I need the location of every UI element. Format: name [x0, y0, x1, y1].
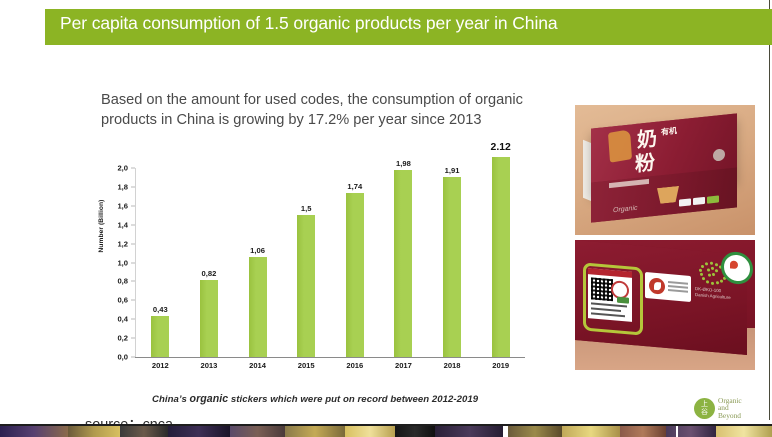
filmstrip-divider: [676, 426, 678, 437]
filmstrip-segment: [666, 426, 716, 437]
filmstrip-segment: [620, 426, 666, 437]
bar-value-label: 1,91: [445, 166, 460, 175]
chart-bar: [346, 193, 364, 357]
eu-leaf-dot: [712, 273, 715, 276]
logo-mark-char-1: 上: [701, 400, 708, 408]
y-tick-label: 0,4: [100, 315, 128, 324]
danish-cert-text: [668, 281, 688, 285]
x-tick-label: 2013: [185, 361, 234, 370]
box-glyph-one: 奶: [637, 128, 657, 150]
eu-leaf-dot: [707, 268, 710, 271]
eu-leaf-dot: [708, 273, 711, 276]
filmstrip-segment: [68, 426, 120, 437]
bar-chart: Number (Billion) 0,00,20,40,60,81,01,21,…: [100, 160, 525, 380]
y-tick-label: 1,0: [100, 258, 128, 267]
bar-value-label: 0,43: [153, 305, 168, 314]
eu-leaf-dot: [711, 267, 714, 270]
logo-mark-icon: 上 谷: [694, 398, 715, 419]
box-glyph-small: 有机: [661, 126, 677, 136]
bar-slot: 1,74: [331, 168, 380, 357]
x-tick-label: 2014: [233, 361, 282, 370]
bar-value-label: 1,5: [301, 204, 312, 213]
x-tick-label: 2018: [428, 361, 477, 370]
y-tick-mark: [131, 224, 135, 225]
cert-chip-1: [679, 198, 691, 206]
filmstrip-segment: [435, 426, 505, 437]
danish-certification-label: [645, 272, 691, 302]
bar-value-label: 1,06: [250, 246, 265, 255]
logo-line-3: Beyond: [718, 412, 742, 420]
eu-leaf-dot: [710, 262, 713, 265]
logo-mark-char-2: 谷: [701, 408, 708, 416]
bar-slot: 0,43: [136, 168, 185, 357]
caption-suffix: stickers which were put on record betwee…: [228, 394, 478, 405]
x-tick-label: 2019: [476, 361, 525, 370]
filmstrip-divider: [503, 426, 505, 437]
eu-leaf-dot: [716, 281, 719, 284]
y-tick-mark: [131, 281, 135, 282]
danish-cert-icon: [649, 277, 665, 294]
box-calligraphy-block: [608, 129, 632, 163]
y-tick-label: 0,0: [100, 353, 128, 362]
x-tick-label: 2016: [331, 361, 380, 370]
cert-chip-3: [707, 195, 719, 203]
chart-bar: [249, 257, 267, 357]
bar-slot: 2.12: [476, 168, 525, 357]
y-tick-label: 1,6: [100, 201, 128, 210]
y-tick-mark: [131, 168, 135, 169]
filmstrip-segment: [508, 426, 562, 437]
bar-value-label: 1,98: [396, 159, 411, 168]
chart-bar: [200, 280, 218, 357]
chart-bar: [394, 170, 412, 357]
chart-bar: [151, 316, 169, 357]
box-glyph-two: 粉: [635, 152, 655, 174]
y-tick-label: 0,6: [100, 296, 128, 305]
bar-slot: 1,98: [379, 168, 428, 357]
bar-value-label: 0,82: [202, 269, 217, 278]
filmstrip-segment: [285, 426, 345, 437]
cert-chip-2: [693, 197, 705, 205]
eu-leaf-dot: [702, 277, 705, 280]
y-tick-label: 0,2: [100, 334, 128, 343]
y-tick-label: 1,8: [100, 182, 128, 191]
filmstrip-segment: [395, 426, 435, 437]
y-tick-label: 2,0: [100, 164, 128, 173]
filmstrip-segment: [562, 426, 620, 437]
bar-value-label: 2.12: [491, 142, 511, 153]
eu-leaf-dot: [699, 269, 702, 272]
bar-slot: 1,91: [428, 168, 477, 357]
eu-leaf-dot: [711, 282, 714, 285]
eu-leaf-dot: [701, 265, 704, 268]
caption-prefix: China’s: [152, 394, 190, 405]
slide-right-border: [769, 0, 770, 420]
filmstrip-segment: [168, 426, 230, 437]
chart-bar: [492, 157, 510, 357]
x-tick-label: 2012: [136, 361, 185, 370]
x-axis-line: [135, 357, 525, 358]
page-title: Per capita consumption of 1.5 organic pr…: [60, 13, 760, 34]
y-tick-label: 1,2: [100, 239, 128, 248]
chart-bar: [297, 215, 315, 357]
y-tick-mark: [131, 186, 135, 187]
y-tick-label: 1,4: [100, 220, 128, 229]
eu-leaf-dot: [715, 269, 718, 272]
y-tick-mark: [131, 357, 135, 358]
certification-labels-photo: DK-ØKO-100 Danish Agriculture: [575, 240, 755, 370]
highlight-box: [583, 262, 643, 335]
lede-paragraph: Based on the amount for used codes, the …: [101, 90, 556, 130]
bar-slot: 1,5: [282, 168, 331, 357]
chart-bar: [443, 177, 461, 357]
brand-logo: 上 谷 Organic and Beyond: [694, 394, 768, 422]
y-tick-mark: [131, 338, 135, 339]
y-tick-label: 0,8: [100, 277, 128, 286]
next-slide-filmstrip: [0, 426, 772, 437]
y-tick-mark: [131, 262, 135, 263]
bar-value-label: 1,74: [347, 182, 362, 191]
filmstrip-segment: [0, 426, 68, 437]
eu-leaf-dot: [705, 262, 708, 265]
y-tick-mark: [131, 319, 135, 320]
eu-leaf-dot: [715, 263, 718, 266]
filmstrip-segment: [716, 426, 772, 437]
chart-caption: China’s organic stickers which were put …: [152, 393, 478, 405]
eu-leaf-dot: [700, 273, 703, 276]
y-tick-mark: [131, 243, 135, 244]
x-tick-label: 2015: [282, 361, 331, 370]
filmstrip-segment: [345, 426, 395, 437]
bar-slot: 0,82: [185, 168, 234, 357]
caption-keyword: organic: [190, 393, 229, 405]
eu-leaf-dot: [706, 280, 709, 283]
y-tick-mark: [131, 205, 135, 206]
filmstrip-segment: [230, 426, 285, 437]
filmstrip-segment: [120, 426, 168, 437]
x-tick-label: 2017: [379, 361, 428, 370]
y-tick-mark: [131, 300, 135, 301]
logo-wordmark: Organic and Beyond: [718, 397, 742, 420]
bar-slot: 1,06: [233, 168, 282, 357]
slide-canvas: Per capita consumption of 1.5 organic pr…: [0, 0, 772, 437]
eu-leaf-dot: [720, 280, 723, 283]
product-box-photo: 奶 粉 有机 Organic: [575, 105, 755, 235]
chart-plot-area: 0,430,821,061,51,741,981,912.12: [136, 168, 525, 357]
